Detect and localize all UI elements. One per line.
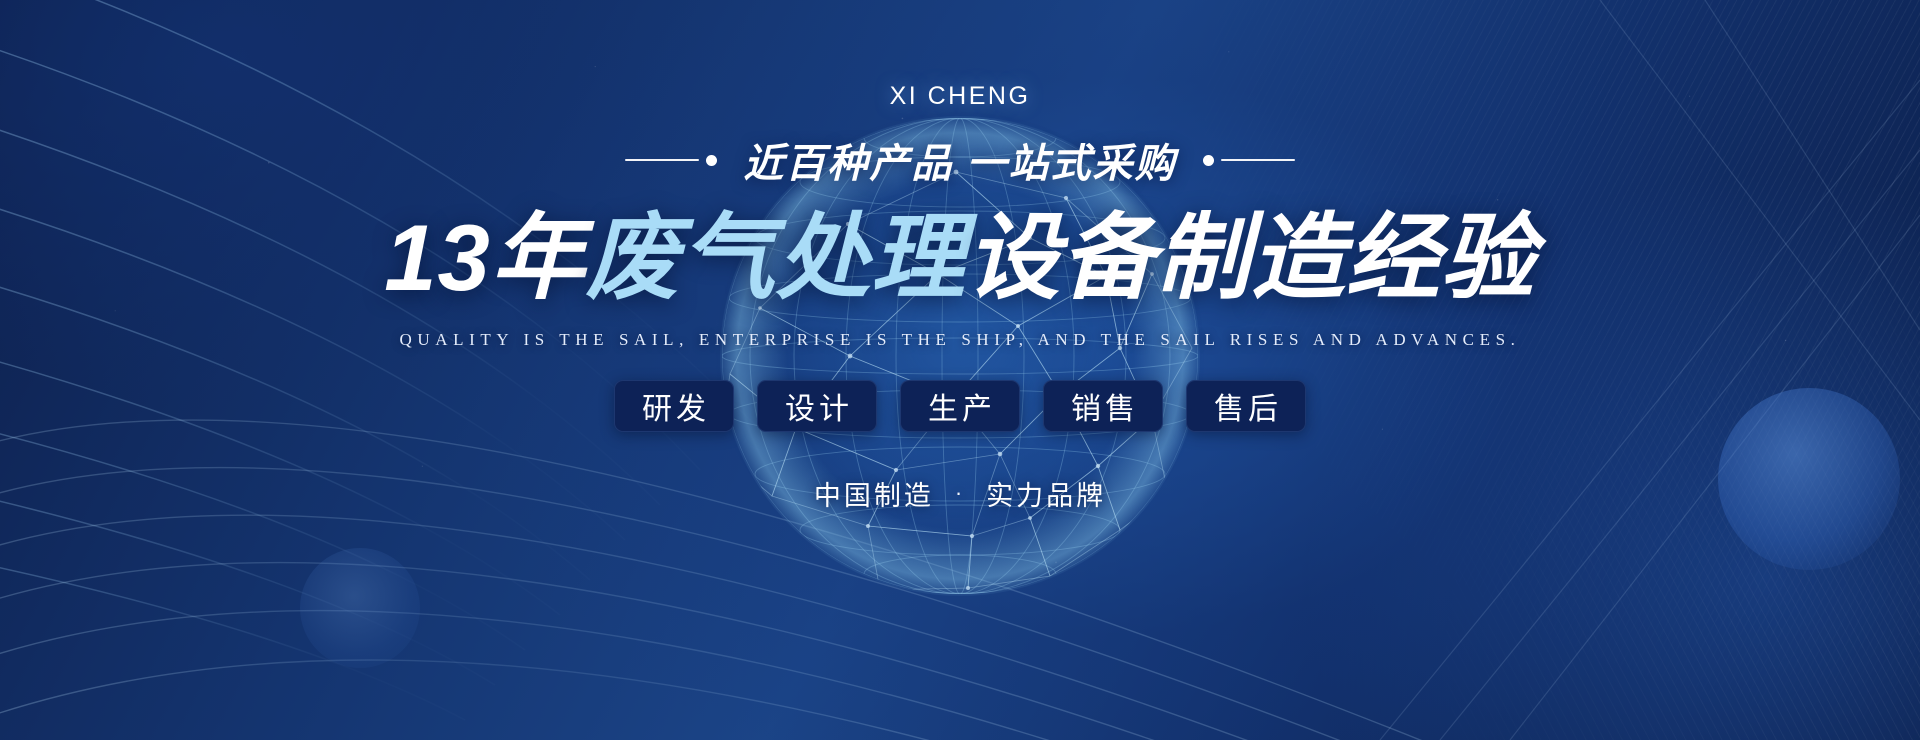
brand-name: XI CHENG bbox=[890, 82, 1031, 111]
footer-separator-icon: · bbox=[955, 480, 965, 506]
rule-bar-icon bbox=[1221, 159, 1295, 161]
english-tagline: QUALITY IS THE SAIL, ENTERPRISE IS THE S… bbox=[399, 330, 1520, 350]
headline: 13年废气处理设备制造经验 bbox=[384, 203, 1536, 314]
rule-bar-icon bbox=[625, 159, 699, 161]
footer-slogan: 中国制造 · 实力品牌 bbox=[814, 474, 1106, 513]
badge-production[interactable]: 生产 bbox=[900, 380, 1020, 432]
headline-accent: 废气处理 bbox=[586, 205, 966, 310]
badge-aftersales[interactable]: 售后 bbox=[1186, 380, 1306, 432]
decorative-rule-right bbox=[1203, 155, 1295, 166]
headline-suffix: 设备制造经验 bbox=[966, 205, 1536, 310]
decorative-rule-left bbox=[625, 155, 717, 166]
badge-research[interactable]: 研发 bbox=[614, 380, 734, 432]
rule-dot-icon bbox=[706, 155, 717, 166]
service-badge-list: 研发 设计 生产 销售 售后 bbox=[614, 380, 1306, 432]
rule-dot-icon bbox=[1203, 155, 1214, 166]
footer-right-text: 实力品牌 bbox=[986, 474, 1106, 513]
subtitle-row: 近百种产品 一站式采购 bbox=[625, 131, 1294, 189]
badge-sales[interactable]: 销售 bbox=[1043, 380, 1163, 432]
headline-prefix: 13年 bbox=[384, 205, 586, 310]
subtitle-text: 近百种产品 一站式采购 bbox=[743, 131, 1176, 189]
hero-banner: XI CHENG 近百种产品 一站式采购 13年废气处理设备制造经验 QUALI… bbox=[0, 0, 1920, 740]
badge-design[interactable]: 设计 bbox=[757, 380, 877, 432]
footer-left-text: 中国制造 bbox=[814, 474, 934, 513]
